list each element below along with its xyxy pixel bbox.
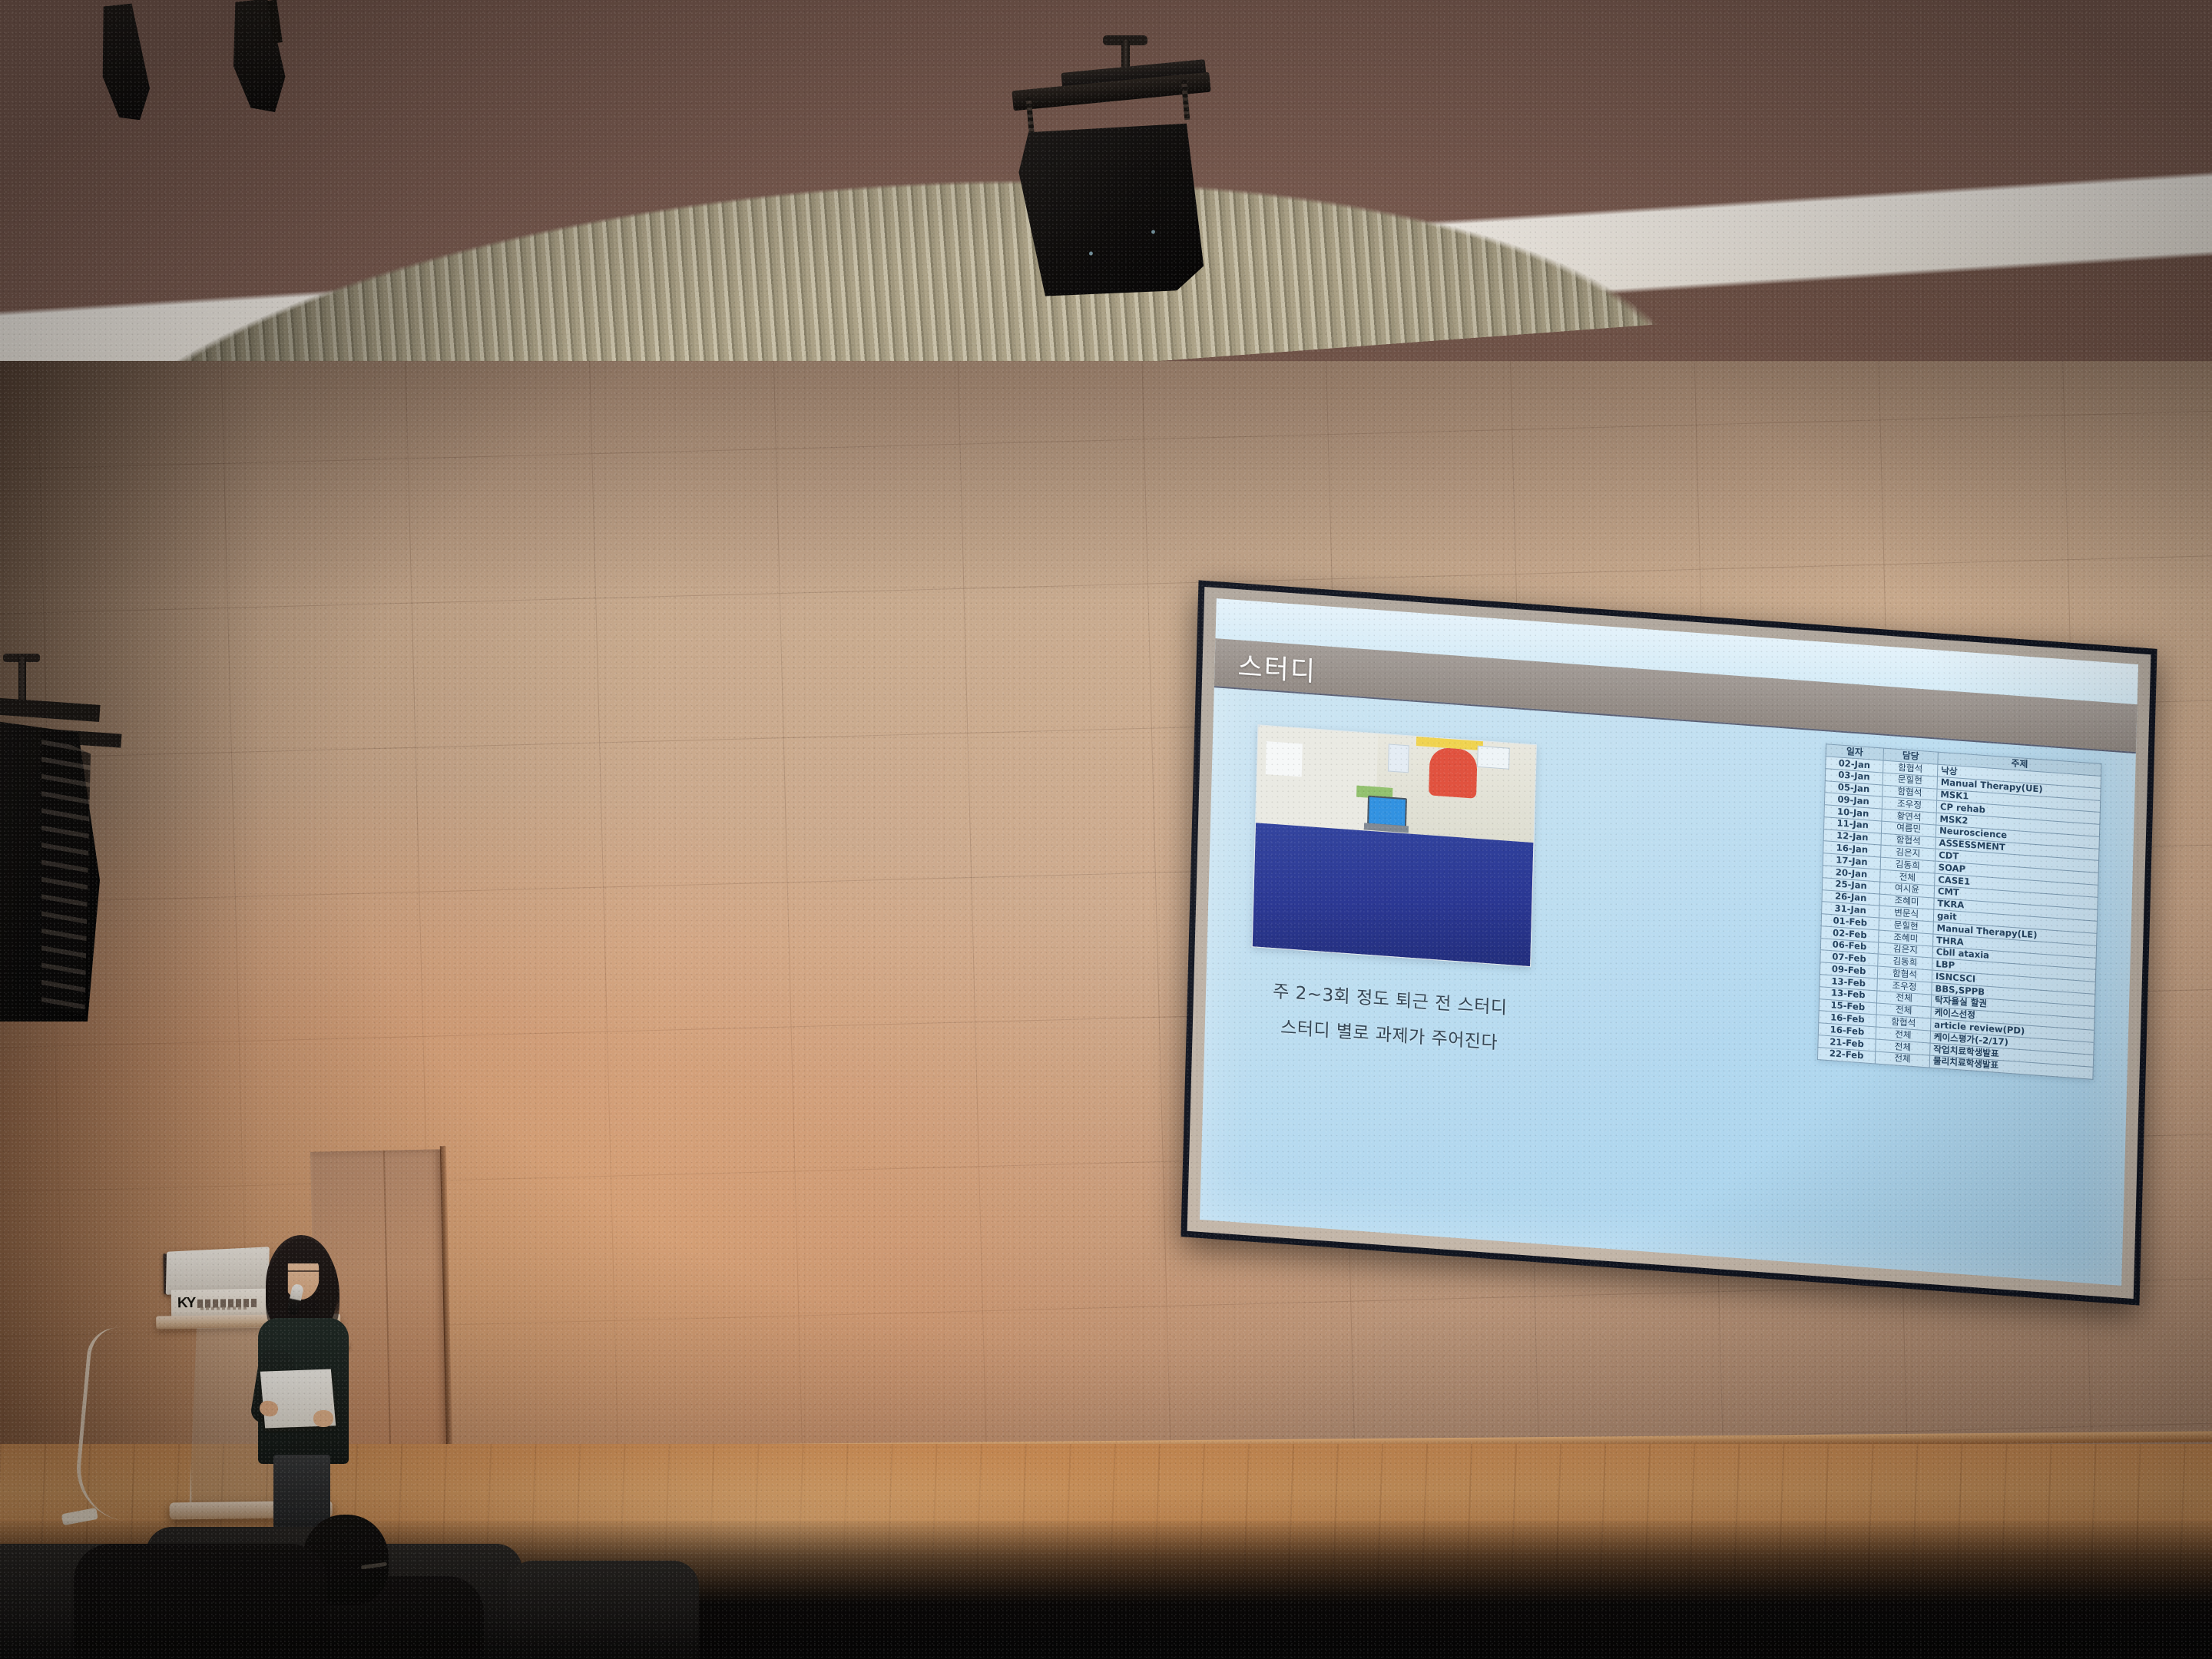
photo-red-coat [1429,747,1478,799]
audience-foreground [0,1521,2212,1659]
projection-screen: 스터디 [1181,580,2157,1305]
photo-note-small [1388,743,1409,773]
line-array-ribs [41,731,91,1015]
lectern-cable [72,1325,184,1525]
audience-shoulders-2 [74,1544,327,1659]
study-photo [1252,724,1537,967]
seat[interactable] [507,1561,699,1659]
presenter-legs [273,1455,330,1532]
ceiling-speaker [1016,112,1205,309]
screen-border: 스터디 [1187,587,2151,1299]
auditorium-photo: 스터디 [0,0,2212,1659]
photo-note [1477,746,1510,770]
study-schedule-table: 일자 담당 주제 02-Jan함협석낙상03-Jan문힐현Manual Ther… [1817,743,2102,1079]
konyang-logo-icon: KY [177,1295,195,1312]
photo-laptop [1367,795,1407,827]
slide-title: 스터디 [1214,643,1317,689]
table-body: 02-Jan함협석낙상03-Jan문힐현Manual Therapy(UE)05… [1817,757,2101,1079]
line-array-rod [18,657,26,704]
presenter [253,1235,353,1527]
door-seam [383,1151,391,1450]
slide-body: 주 2~3회 정도 퇴근 전 스터디 스터디 별로 과제가 주어진다 일자 담당… [1200,689,2136,1286]
lectern-brand-subtext [200,1306,248,1310]
presenter-hand-right [313,1410,333,1427]
photo-poster [1266,741,1303,777]
photo-blue-table [1253,823,1534,966]
presenter-glasses [284,1270,320,1279]
presentation-slide: 스터디 [1200,598,2138,1286]
